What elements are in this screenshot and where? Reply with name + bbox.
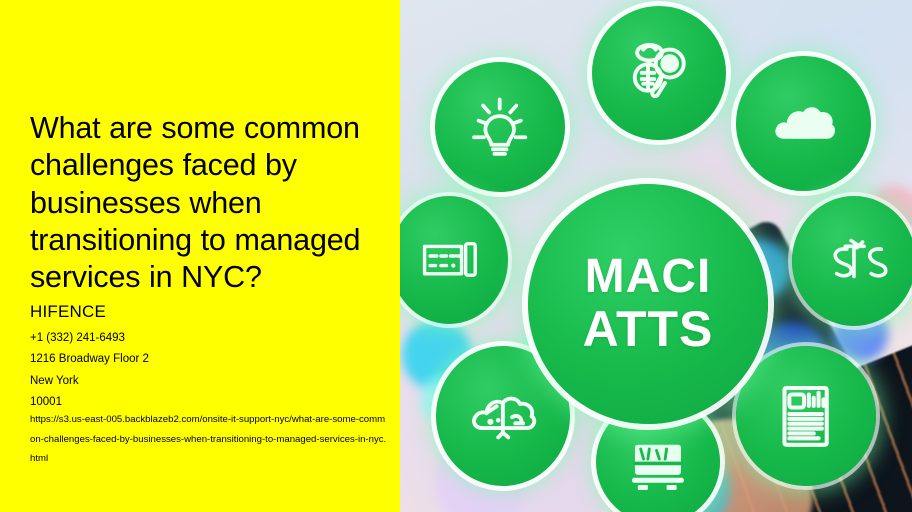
page-title: What are some common challenges faced by…: [30, 110, 392, 297]
address-line1: 1216 Broadway Floor 2: [30, 349, 390, 370]
brand-name: HIFENCE: [30, 303, 106, 320]
document-report-icon: [736, 346, 876, 486]
hero-line-2: ATTS: [583, 304, 714, 355]
cloud-icon: [736, 56, 871, 191]
source-url[interactable]: https://s3.us-east-005.backblazeb2.com/o…: [30, 410, 390, 469]
hero-logo-bubble: MACI ATTS: [528, 184, 768, 424]
right-image-panel: MACI ATTS: [400, 0, 912, 512]
sts-monogram-icon: [792, 196, 912, 326]
lightbulb-icon: [435, 62, 565, 192]
phone-number: +1 (332) 241-6493: [30, 328, 390, 349]
magnifier-icon: [592, 6, 726, 140]
hero-line-1: MACI: [585, 253, 712, 302]
left-text-panel: What are some common challenges faced by…: [0, 0, 400, 512]
contact-block: +1 (332) 241-6493 1216 Broadway Floor 2 …: [30, 328, 390, 413]
promo-card: What are some common challenges faced by…: [0, 0, 912, 512]
address-city: New York: [30, 371, 390, 392]
